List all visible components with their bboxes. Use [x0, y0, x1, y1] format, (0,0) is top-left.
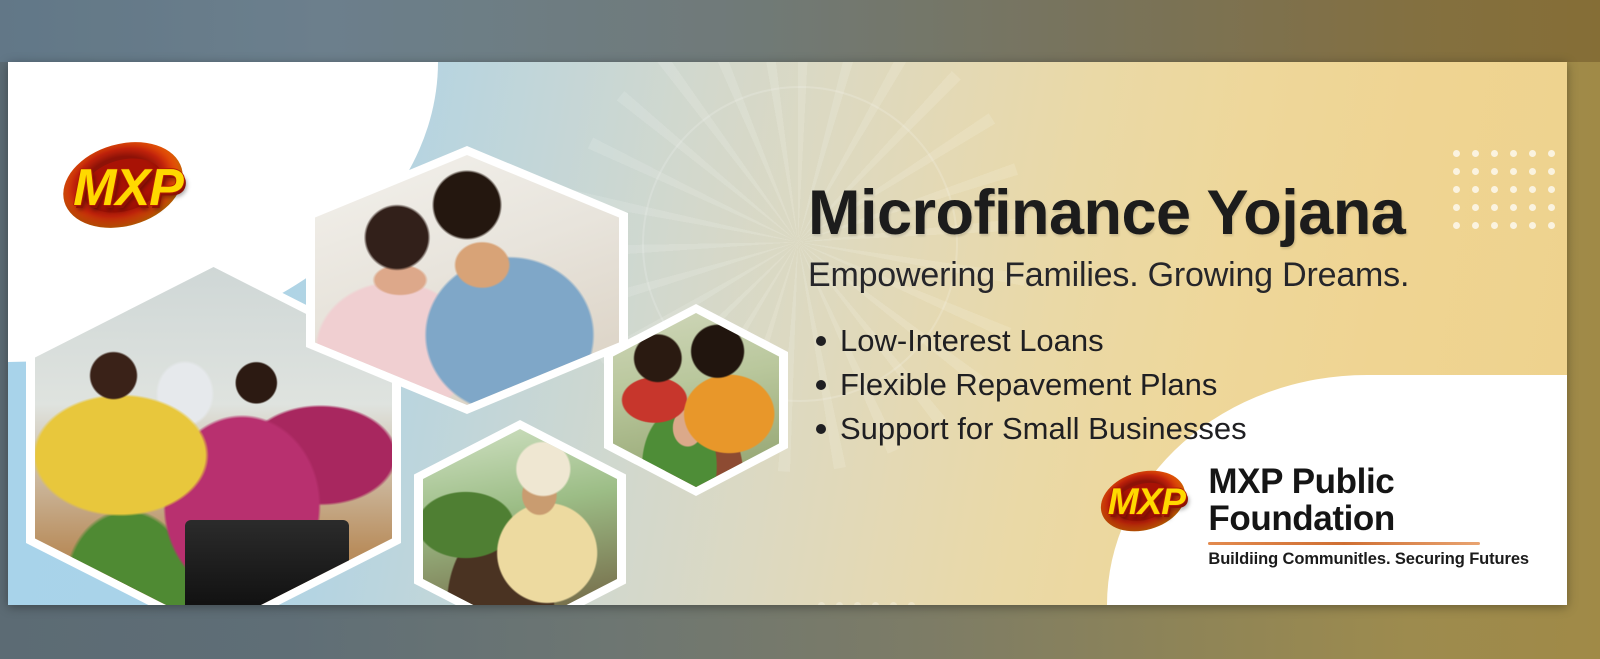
list-item: Flexible Repavement Plans — [808, 363, 1508, 407]
photo-hexagon-mother-and-children-garden — [604, 304, 788, 496]
photo-hexagon-elderly-farmer — [414, 420, 626, 605]
photo-elderly-farmer-tending-crops — [423, 429, 617, 605]
decorative-dot — [1529, 150, 1536, 157]
decorative-dot — [854, 602, 861, 605]
decorative-dot — [1510, 222, 1517, 229]
decorative-dot — [1472, 168, 1479, 175]
decorative-dot — [818, 602, 825, 605]
decorative-dot — [1548, 186, 1555, 193]
decorative-dot — [890, 602, 897, 605]
brand-text-block: MXP Public Foundation Buildiing Communit… — [1208, 462, 1529, 569]
decorative-dot — [1529, 186, 1536, 193]
decorative-dot — [1472, 150, 1479, 157]
hexagon-clip — [423, 429, 617, 605]
dot-grid-lower-middle — [818, 602, 928, 605]
mxp-wordmark: MXP — [1098, 481, 1194, 523]
decorative-dot — [1491, 150, 1498, 157]
photo-mother-and-children-garden — [613, 313, 779, 487]
page-backdrop: MXP Microfinance Yojana Empowering Famil… — [0, 0, 1600, 659]
decorative-dot — [1529, 168, 1536, 175]
decorative-dot — [1510, 204, 1517, 211]
decorative-dot — [1491, 168, 1498, 175]
decorative-dot — [1529, 222, 1536, 229]
decorative-dot — [1548, 168, 1555, 175]
banner-subtitle: Empowering Families. Growing Dreams. — [808, 256, 1508, 295]
photo-father-and-daughter-tablet — [315, 155, 619, 405]
feature-list: Low-Interest Loans Flexible Repavement P… — [808, 319, 1508, 451]
mxp-logo-top-left[interactable]: MXP — [58, 134, 198, 240]
decorative-dot — [836, 602, 843, 605]
decorative-dot — [1453, 150, 1460, 157]
decorative-dot — [1548, 222, 1555, 229]
banner-copy: Microfinance Yojana Empowering Families.… — [808, 180, 1508, 451]
page-title: Microfinance Yojana — [808, 180, 1508, 246]
list-item: Low-Interest Loans — [808, 319, 1508, 363]
mxp-public-foundation-logo-lockup[interactable]: MXP MXP Public Foundation Buildiing Comm… — [1098, 462, 1529, 569]
brand-name: MXP Public Foundation — [1208, 464, 1529, 537]
marketing-banner: MXP Microfinance Yojana Empowering Famil… — [8, 62, 1567, 605]
brand-divider — [1208, 542, 1480, 545]
hexagon-clip — [315, 155, 619, 405]
mxp-wordmark: MXP — [58, 158, 198, 218]
decorative-dot — [872, 602, 879, 605]
list-item: Support for Small Businesses — [808, 407, 1508, 451]
decorative-dot — [1510, 168, 1517, 175]
decorative-dot — [1510, 150, 1517, 157]
decorative-dot — [1529, 204, 1536, 211]
hexagon-clip — [613, 313, 779, 487]
brand-tagline: Buildiing Communitles. Securing Futures — [1208, 550, 1529, 569]
decorative-dot — [1548, 150, 1555, 157]
decorative-dot — [1453, 168, 1460, 175]
decorative-dot — [1510, 186, 1517, 193]
decorative-dot — [908, 602, 915, 605]
decorative-dot — [1548, 204, 1555, 211]
mxp-logo-mark: MXP — [1098, 466, 1194, 540]
